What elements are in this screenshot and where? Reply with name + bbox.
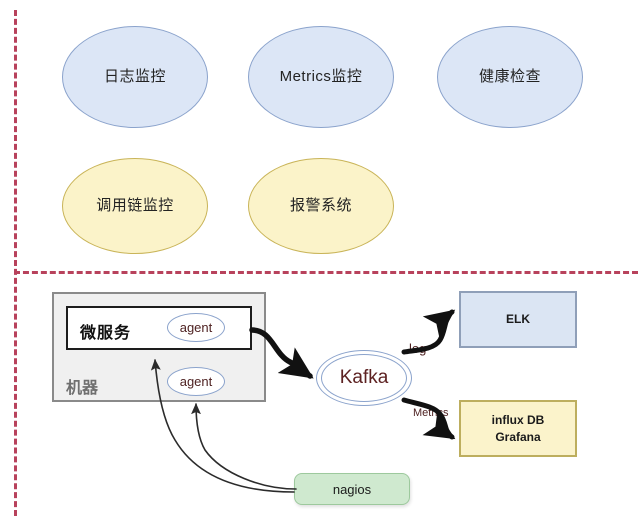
edge-label-metrics: Metrics: [413, 407, 448, 419]
concept-ellipse-metrics-monitoring[interactable]: Metrics监控: [248, 26, 394, 128]
concept-label: 调用链监控: [96, 197, 174, 215]
concept-ellipse-alert-system[interactable]: 报警系统: [248, 158, 394, 254]
section-divider-vertical: [14, 10, 17, 516]
nagios-label: nagios: [333, 482, 371, 497]
kafka-node[interactable]: Kafka: [321, 354, 407, 402]
arrow-nagios-to-agent-machine: [196, 404, 296, 489]
elk-box[interactable]: ELK: [459, 291, 577, 348]
kafka-label: Kafka: [340, 367, 389, 389]
influx-grafana-label: influx DB Grafana: [492, 412, 545, 444]
agent-ellipse-service[interactable]: agent: [167, 313, 225, 342]
nagios-box[interactable]: nagios: [294, 473, 410, 505]
diagram-canvas: 日志监控 Metrics监控 健康检查 调用链监控 报警系统 微服务 机器 ag…: [0, 0, 640, 530]
agent-label: agent: [180, 374, 213, 389]
concept-ellipse-trace-monitoring[interactable]: 调用链监控: [62, 158, 208, 254]
elk-label: ELK: [506, 311, 530, 327]
agent-ellipse-machine[interactable]: agent: [167, 367, 225, 396]
concept-label: Metrics监控: [280, 68, 363, 86]
concept-ellipse-health-check[interactable]: 健康检查: [437, 26, 583, 128]
concept-label: 日志监控: [104, 68, 166, 86]
edge-label-log: log: [409, 341, 426, 356]
section-divider-horizontal: [14, 271, 638, 274]
machine-label: 机器: [66, 374, 98, 398]
influx-grafana-box[interactable]: influx DB Grafana: [459, 400, 577, 457]
concept-label: 健康检查: [479, 68, 541, 86]
concept-ellipse-log-monitoring[interactable]: 日志监控: [62, 26, 208, 128]
concept-label: 报警系统: [290, 197, 352, 215]
agent-label: agent: [180, 320, 213, 335]
microservice-label: 微服务: [80, 319, 131, 343]
